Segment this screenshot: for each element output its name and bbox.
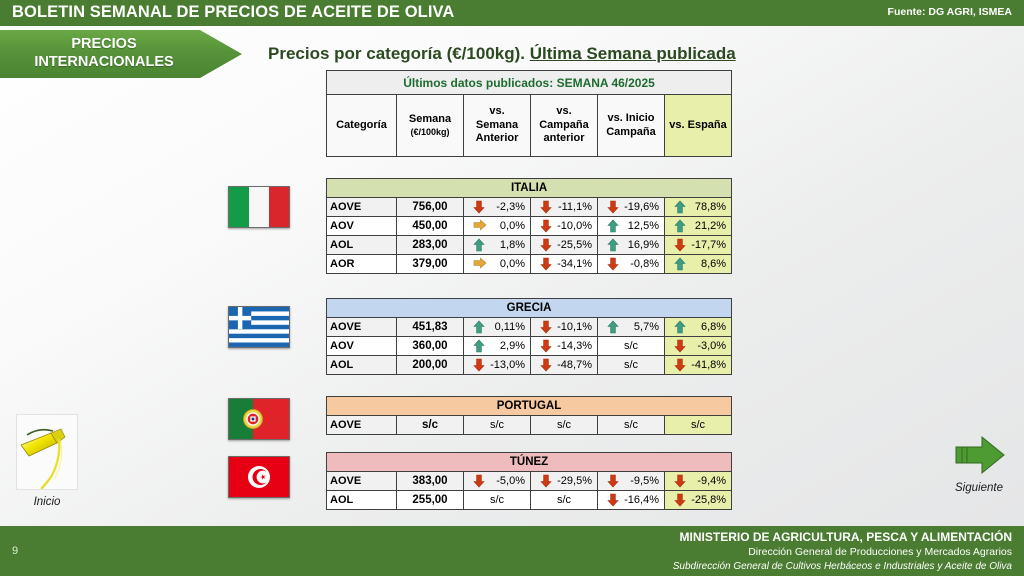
cell-value: 2,9% [487,340,527,352]
cell-vs-campana-anterior: s/c [531,491,598,510]
table-header: Últimos datos publicados: SEMANA 46/2025… [326,70,732,157]
trend-up-icon [607,320,619,334]
footer-line-direction: Dirección General de Producciones y Merc… [673,546,1012,560]
cell-semana: 360,00 [397,337,464,356]
cell-semana: 756,00 [397,198,464,217]
cell-vs-semana-anterior: -13,0% [464,356,531,375]
page-title: BOLETIN SEMANAL DE PRECIOS DE ACEITE DE … [12,3,454,22]
cell-categoria: AOL [327,236,397,255]
cell-value: -41,8% [688,359,728,371]
table-row: Últimos datos publicados: SEMANA 46/2025 [327,71,732,95]
trend-down-icon [607,474,619,488]
cell-categoria: AOL [327,356,397,375]
cell-value: -17,7% [688,239,728,251]
table-row: AOVE451,830,11%-10,1%5,7%6,8% [327,318,732,337]
cell-value: -3,0% [688,340,728,352]
cell-value: 5,7% [621,321,661,333]
cell-vs-espana: -9,4% [665,472,732,491]
table-row: PORTUGAL [327,397,732,416]
footer-line-subdirection: Subdirección General de Cultivos Herbáce… [673,560,1012,573]
col-header-categoria: Categoría [327,95,397,157]
cell-vs-inicio-campana: 12,5% [598,217,665,236]
cell-value: 16,9% [621,239,661,251]
cell-value: -11,1% [554,201,594,213]
trend-down-icon [674,358,686,372]
cell-vs-inicio-campana: -9,5% [598,472,665,491]
table-row: Categoría Semana (€/100kg) vs. Semana An… [327,95,732,157]
cell-value: 21,2% [688,220,728,232]
cell-value: 0,11% [487,321,527,333]
col-header-vs-inicio-campana: vs. Inicio Campaña [598,95,665,157]
table-country-italia: ITALIAAOVE756,00-2,3%-11,1%-19,6%78,8%AO… [326,178,732,274]
table-row: ITALIA [327,179,732,198]
table-banner-label: Últimos datos publicados: SEMANA 46/2025 [327,71,732,95]
cell-vs-espana: -25,8% [665,491,732,510]
cell-value: -9,4% [688,475,728,487]
trend-down-icon [540,219,552,233]
cell-vs-semana-anterior: 1,8% [464,236,531,255]
cell-vs-espana: 78,8% [665,198,732,217]
country-banner-tunez: TÚNEZ [327,453,732,472]
cell-semana: s/c [397,416,464,435]
section-tab-label: PRECIOS INTERNACIONALES [34,36,173,71]
cell-categoria: AOVE [327,198,397,217]
footer-text: MINISTERIO DE AGRICULTURA, PESCA Y ALIME… [673,530,1012,573]
header-source: Fuente: DG AGRI, ISMEA [888,6,1012,18]
cell-value: -25,8% [688,494,728,506]
cell-categoria: AOL [327,491,397,510]
nav-siguiente[interactable]: Siguiente [948,434,1010,494]
cell-vs-semana-anterior: s/c [464,491,531,510]
table-row: AOV360,002,9%-14,3%s/c-3,0% [327,337,732,356]
cell-vs-semana-anterior: 0,11% [464,318,531,337]
cell-vs-semana-anterior: 2,9% [464,337,531,356]
table-row: AOVE756,00-2,3%-11,1%-19,6%78,8% [327,198,732,217]
header-bar: BOLETIN SEMANAL DE PRECIOS DE ACEITE DE … [0,0,1024,26]
cell-value: -19,6% [621,201,661,213]
cell-categoria: AOVE [327,318,397,337]
trend-down-icon [540,339,552,353]
nav-inicio[interactable]: Inicio [16,414,78,508]
cell-value: 12,5% [621,220,661,232]
footer-bar: 9 MINISTERIO DE AGRICULTURA, PESCA Y ALI… [0,526,1024,576]
cell-categoria: AOVE [327,416,397,435]
trend-down-icon [674,493,686,507]
cell-vs-semana-anterior: -5,0% [464,472,531,491]
cell-categoria: AOV [327,337,397,356]
cell-value: -48,7% [554,359,594,371]
table-row: AOVE383,00-5,0%-29,5%-9,5%-9,4% [327,472,732,491]
trend-down-icon [674,339,686,353]
cell-vs-campana-anterior: -34,1% [531,255,598,274]
table-row: TÚNEZ [327,453,732,472]
cell-vs-inicio-campana: 5,7% [598,318,665,337]
cell-vs-campana-anterior: -25,5% [531,236,598,255]
table-row: AOL283,001,8%-25,5%16,9%-17,7% [327,236,732,255]
trend-up-icon [607,219,619,233]
cell-vs-inicio-campana: -16,4% [598,491,665,510]
trend-down-icon [540,238,552,252]
cell-vs-semana-anterior: 0,0% [464,255,531,274]
trend-down-icon [473,474,485,488]
trend-up-icon [674,219,686,233]
table-row: AOL255,00s/cs/c-16,4%-25,8% [327,491,732,510]
cell-vs-espana: 6,8% [665,318,732,337]
cell-vs-inicio-campana: -19,6% [598,198,665,217]
cell-value: -2,3% [487,201,527,213]
trend-down-icon [540,257,552,271]
olive-oil-icon [16,414,78,490]
italy-flag [228,186,290,228]
cell-vs-campana-anterior: -10,0% [531,217,598,236]
cell-categoria: AOR [327,255,397,274]
cell-semana: 450,00 [397,217,464,236]
cell-semana: 451,83 [397,318,464,337]
cell-semana: 379,00 [397,255,464,274]
table-row: AOR379,000,0%-34,1%-0,8%8,6% [327,255,732,274]
cell-value: -34,1% [554,258,594,270]
table-row: AOVEs/cs/cs/cs/cs/c [327,416,732,435]
cell-categoria: AOVE [327,472,397,491]
table-row: AOV450,000,0%-10,0%12,5%21,2% [327,217,732,236]
cell-vs-campana-anterior: -29,5% [531,472,598,491]
cell-value: -25,5% [554,239,594,251]
cell-vs-campana-anterior: -11,1% [531,198,598,217]
tunisia-flag [228,456,290,498]
trend-down-icon [607,257,619,271]
trend-up-icon [674,200,686,214]
cell-semana: 383,00 [397,472,464,491]
cell-vs-espana: 21,2% [665,217,732,236]
cell-vs-espana: 8,6% [665,255,732,274]
nav-inicio-label: Inicio [16,496,78,508]
greece-flag [228,306,290,348]
cell-value: -10,1% [554,321,594,333]
cell-vs-campana-anterior: -48,7% [531,356,598,375]
cell-semana: 255,00 [397,491,464,510]
trend-up-icon [674,320,686,334]
cell-value: -29,5% [554,475,594,487]
cell-vs-campana-anterior: s/c [531,416,598,435]
cell-vs-inicio-campana: s/c [598,416,665,435]
cell-vs-espana: s/c [665,416,732,435]
country-banner-italia: ITALIA [327,179,732,198]
cell-vs-inicio-campana: 16,9% [598,236,665,255]
cell-vs-espana: -41,8% [665,356,732,375]
section-tab-precios-internacionales[interactable]: PRECIOS INTERNACIONALES [0,30,242,78]
table-row: AOL200,00-13,0%-48,7%s/c-41,8% [327,356,732,375]
cell-value: 78,8% [688,201,728,213]
trend-down-icon [540,200,552,214]
table-country-tunez: TÚNEZAOVE383,00-5,0%-29,5%-9,5%-9,4%AOL2… [326,452,732,510]
cell-value: 0,0% [487,220,527,232]
trend-down-icon [540,358,552,372]
cell-vs-espana: -17,7% [665,236,732,255]
cell-value: 8,6% [688,258,728,270]
cell-vs-espana: -3,0% [665,337,732,356]
cell-value: -13,0% [487,359,527,371]
trend-down-icon [674,238,686,252]
cell-vs-semana-anterior: s/c [464,416,531,435]
trend-down-icon [607,200,619,214]
col-header-semana-main: Semana [409,113,451,125]
trend-flat-icon [473,219,485,233]
slide-canvas: BOLETIN SEMANAL DE PRECIOS DE ACEITE DE … [0,0,1024,576]
cell-value: -9,5% [621,475,661,487]
cell-semana: 200,00 [397,356,464,375]
trend-up-icon [473,238,485,252]
cell-vs-inicio-campana: -0,8% [598,255,665,274]
trend-flat-icon [473,257,485,271]
trend-down-icon [540,320,552,334]
cell-vs-campana-anterior: -10,1% [531,318,598,337]
trend-down-icon [540,474,552,488]
portugal-flag [228,398,290,440]
country-banner-grecia: GRECIA [327,299,732,318]
page-number: 9 [12,545,18,557]
cell-value: -14,3% [554,340,594,352]
cell-value: 6,8% [688,321,728,333]
col-header-vs-campana-anterior: vs. Campaña anterior [531,95,598,157]
table-row: GRECIA [327,299,732,318]
slide-title-underlined: Última Semana publicada [530,44,736,63]
slide-title-plain: Precios por categoría (€/100kg). [268,44,530,63]
cell-vs-inicio-campana: s/c [598,337,665,356]
col-header-vs-semana-anterior: vs. Semana Anterior [464,95,531,157]
country-banner-portugal: PORTUGAL [327,397,732,416]
table-country-portugal: PORTUGALAOVEs/cs/cs/cs/cs/c [326,396,732,435]
trend-up-icon [473,320,485,334]
slide-title: Precios por categoría (€/100kg). Última … [268,44,736,64]
trend-down-icon [674,474,686,488]
col-header-vs-espana: vs. España [665,95,732,157]
cell-value: -10,0% [554,220,594,232]
col-header-semana: Semana (€/100kg) [397,95,464,157]
nav-siguiente-label: Siguiente [948,482,1010,494]
trend-up-icon [674,257,686,271]
trend-up-icon [473,339,485,353]
cell-vs-semana-anterior: -2,3% [464,198,531,217]
trend-down-icon [473,200,485,214]
cell-vs-inicio-campana: s/c [598,356,665,375]
cell-semana: 283,00 [397,236,464,255]
cell-value: 1,8% [487,239,527,251]
footer-line-ministry: MINISTERIO DE AGRICULTURA, PESCA Y ALIME… [673,530,1012,546]
trend-down-icon [607,493,619,507]
col-header-semana-unit: (€/100kg) [400,127,460,138]
cell-value: -0,8% [621,258,661,270]
trend-up-icon [607,238,619,252]
cell-value: -16,4% [621,494,661,506]
trend-down-icon [473,358,485,372]
cell-value: -5,0% [487,475,527,487]
cell-vs-semana-anterior: 0,0% [464,217,531,236]
cell-categoria: AOV [327,217,397,236]
cell-value: 0,0% [487,258,527,270]
table-country-grecia: GRECIAAOVE451,830,11%-10,1%5,7%6,8%AOV36… [326,298,732,375]
right-arrow-icon[interactable] [950,434,1008,476]
cell-vs-campana-anterior: -14,3% [531,337,598,356]
